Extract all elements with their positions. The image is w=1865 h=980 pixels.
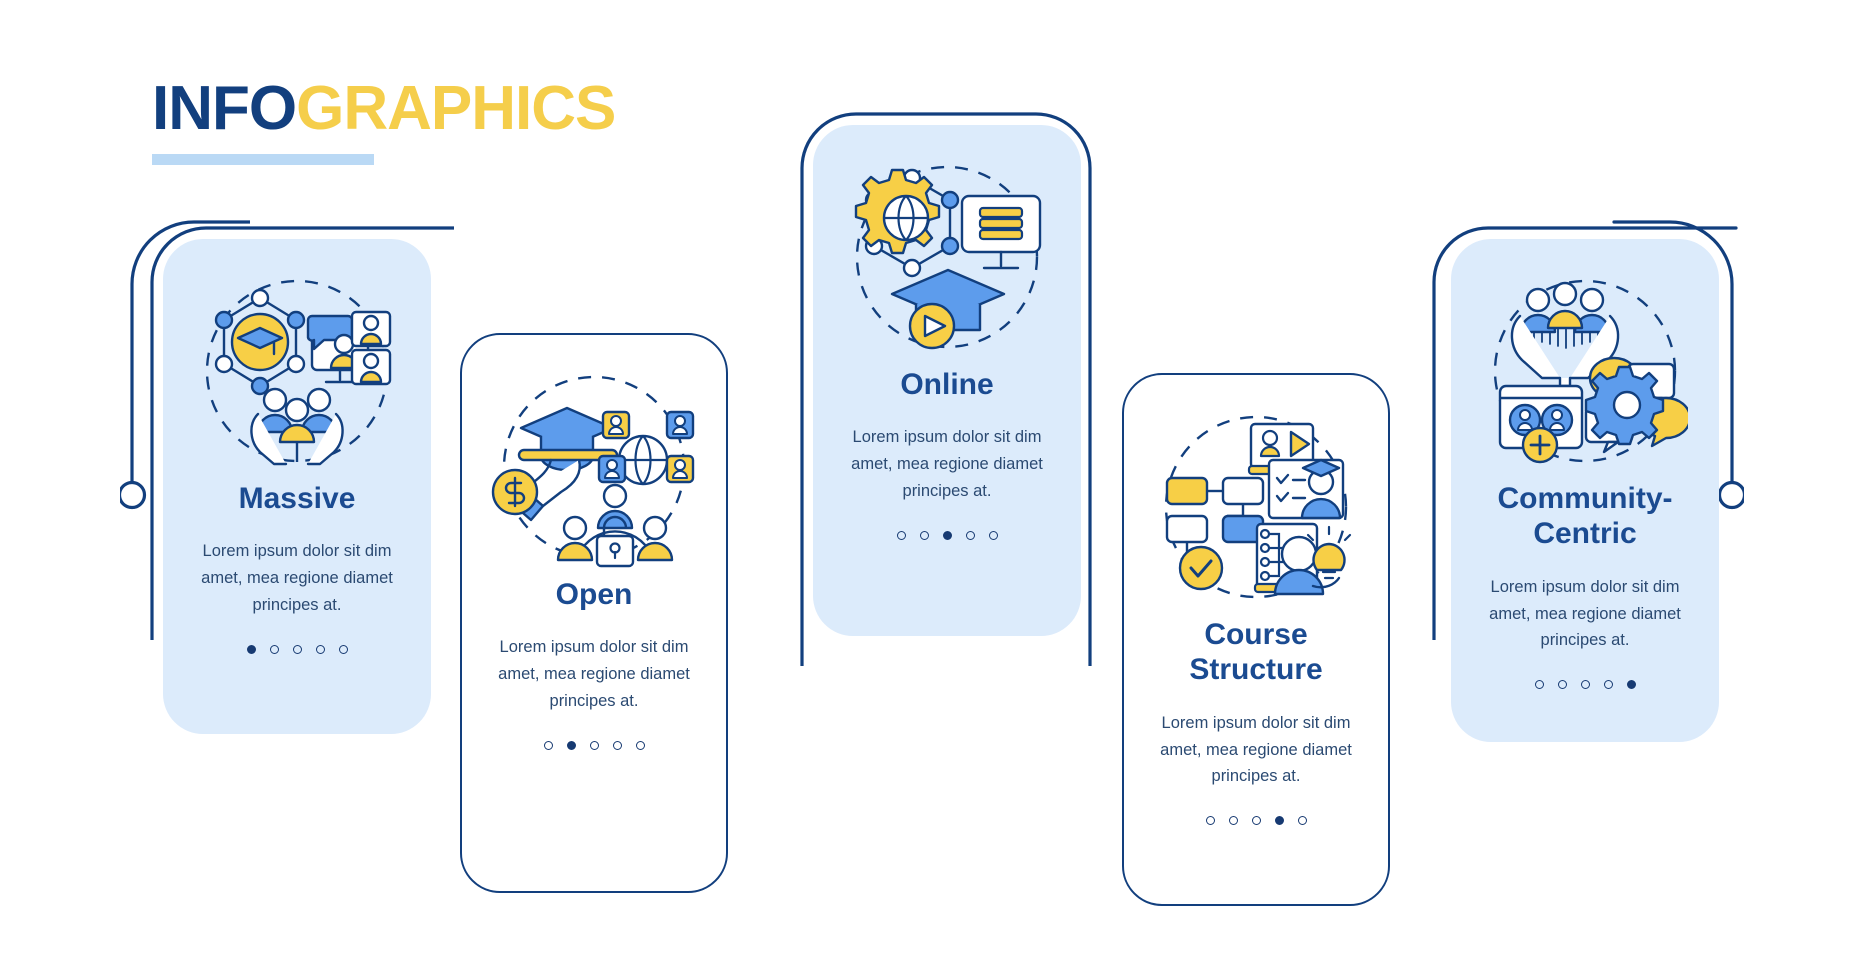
step-dot-1[interactable] <box>544 741 553 750</box>
page-title: INFOGRAPHICS <box>152 78 615 165</box>
step-indicator[interactable] <box>247 645 348 654</box>
card-body: Lorem ipsum dolor sit dim amet, mea regi… <box>163 538 431 618</box>
step-dot-2[interactable] <box>920 531 929 540</box>
step-dot-2[interactable] <box>270 645 279 654</box>
infographic-canvas: INFOGRAPHICS <box>0 0 1865 980</box>
flowchart-checklist-lightbulb-icon <box>1150 401 1362 613</box>
step-dot-3[interactable] <box>590 741 599 750</box>
card-massive[interactable]: Massive Lorem ipsum dolor sit dim amet, … <box>163 239 431 734</box>
step-dot-1[interactable] <box>1206 816 1215 825</box>
card-online[interactable]: Online Lorem ipsum dolor sit dim amet, m… <box>813 125 1081 636</box>
card-course-structure[interactable]: Course Structure Lorem ipsum dolor sit d… <box>1122 373 1390 906</box>
step-dot-4[interactable] <box>966 531 975 540</box>
step-dot-2[interactable] <box>1558 680 1567 689</box>
step-dot-5[interactable] <box>1298 816 1307 825</box>
card-community-centric[interactable]: Community-Centric Lorem ipsum dolor sit … <box>1451 239 1719 742</box>
step-dot-4[interactable] <box>1275 816 1284 825</box>
title-secondary: GRAPHICS <box>296 74 615 143</box>
network-graduation-video-community-icon <box>191 265 403 477</box>
step-dot-3[interactable] <box>293 645 302 654</box>
step-indicator[interactable] <box>544 741 645 750</box>
card-body: Lorem ipsum dolor sit dim amet, mea regi… <box>813 424 1081 504</box>
card-body: Lorem ipsum dolor sit dim amet, mea regi… <box>462 634 726 714</box>
step-dot-1[interactable] <box>897 531 906 540</box>
step-indicator[interactable] <box>1206 816 1307 825</box>
step-dot-1[interactable] <box>247 645 256 654</box>
title-primary: INFO <box>152 74 296 143</box>
step-dot-2[interactable] <box>1229 816 1238 825</box>
card-open[interactable]: Open Lorem ipsum dolor sit dim amet, mea… <box>460 333 728 893</box>
step-dot-5[interactable] <box>636 741 645 750</box>
step-indicator[interactable] <box>897 531 998 540</box>
card-body: Lorem ipsum dolor sit dim amet, mea regi… <box>1451 574 1719 654</box>
step-dot-5[interactable] <box>339 645 348 654</box>
step-indicator[interactable] <box>1535 680 1636 689</box>
card-title: Community-Centric <box>1451 481 1719 552</box>
step-dot-4[interactable] <box>1604 680 1613 689</box>
gear-globe-monitor-graduation-play-icon <box>841 151 1053 363</box>
step-dot-3[interactable] <box>943 531 952 540</box>
hands-people-chat-gear-add-user-icon <box>1479 265 1691 477</box>
step-dot-1[interactable] <box>1535 680 1544 689</box>
step-dot-4[interactable] <box>613 741 622 750</box>
card-title: Massive <box>225 481 370 516</box>
card-title: Course Structure <box>1124 617 1388 688</box>
step-dot-2[interactable] <box>567 741 576 750</box>
step-dot-4[interactable] <box>316 645 325 654</box>
step-dot-5[interactable] <box>989 531 998 540</box>
graduation-cap-money-globe-unlock-icon <box>488 361 700 573</box>
card-title: Open <box>542 577 647 612</box>
step-dot-3[interactable] <box>1252 816 1261 825</box>
step-dot-3[interactable] <box>1581 680 1590 689</box>
title-underline-rule <box>152 154 374 165</box>
step-dot-5[interactable] <box>1627 680 1636 689</box>
card-body: Lorem ipsum dolor sit dim amet, mea regi… <box>1124 710 1388 790</box>
card-title: Online <box>886 367 1007 402</box>
